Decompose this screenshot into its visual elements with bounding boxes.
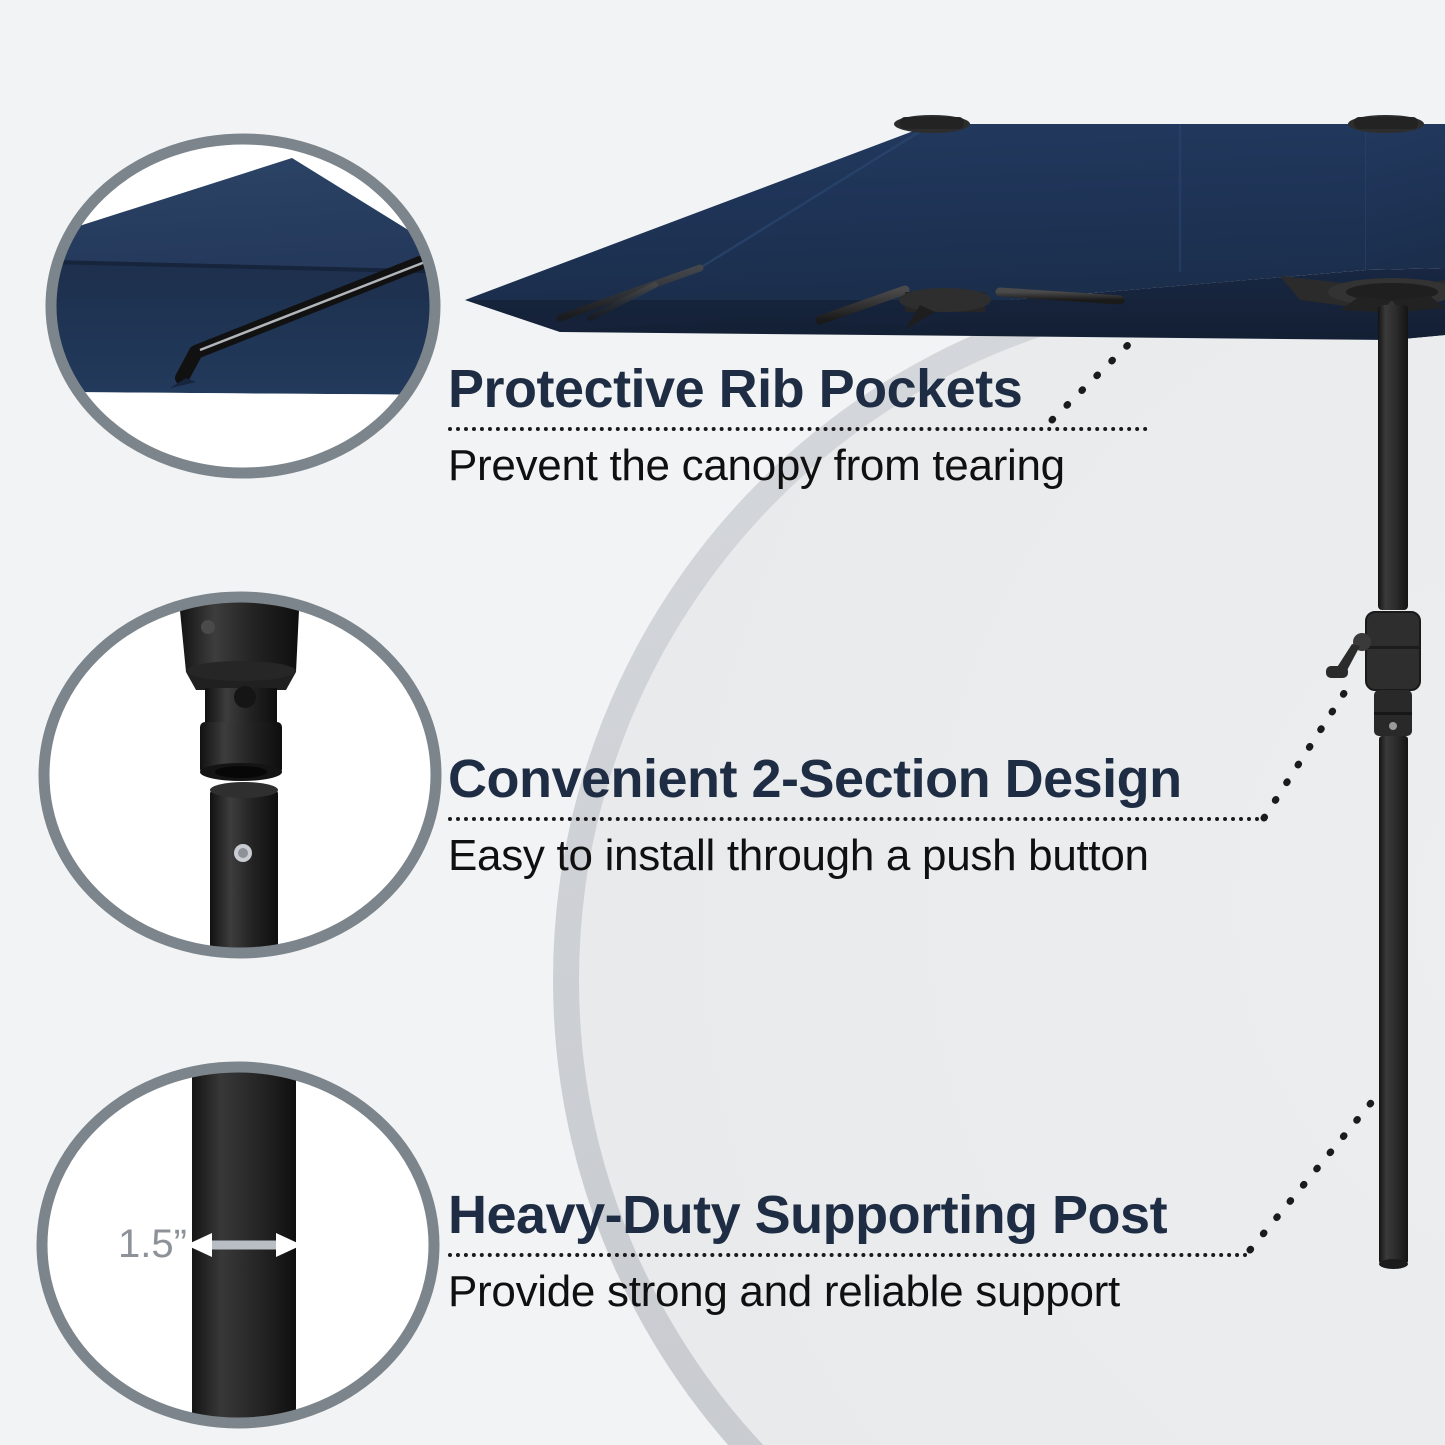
feature-subtitle-rib-pockets: Prevent the canopy from tearing bbox=[448, 444, 1148, 488]
leader-line-two-section bbox=[1264, 684, 1350, 818]
feature-block-rib-pockets: Protective Rib Pockets Prevent the canop… bbox=[448, 362, 1148, 488]
feature-block-supporting-post: Heavy-Duty Supporting Post Provide stron… bbox=[448, 1188, 1248, 1314]
feature-title-supporting-post: Heavy-Duty Supporting Post bbox=[448, 1188, 1248, 1242]
feature-subtitle-two-section: Easy to install through a push button bbox=[448, 834, 1268, 878]
infographic-canvas: 1.5” Protective Rib Pockets Prevent the … bbox=[0, 0, 1445, 1445]
feature-block-two-section: Convenient 2-Section Design Easy to inst… bbox=[448, 752, 1268, 878]
feature-divider-1 bbox=[448, 427, 1148, 431]
feature-title-rib-pockets: Protective Rib Pockets bbox=[448, 362, 1148, 416]
feature-divider-3 bbox=[448, 1253, 1248, 1257]
leader-line-supporting-post bbox=[1250, 1092, 1380, 1250]
feature-divider-2 bbox=[448, 817, 1268, 821]
feature-title-two-section: Convenient 2-Section Design bbox=[448, 752, 1268, 806]
feature-subtitle-supporting-post: Provide strong and reliable support bbox=[448, 1270, 1248, 1314]
